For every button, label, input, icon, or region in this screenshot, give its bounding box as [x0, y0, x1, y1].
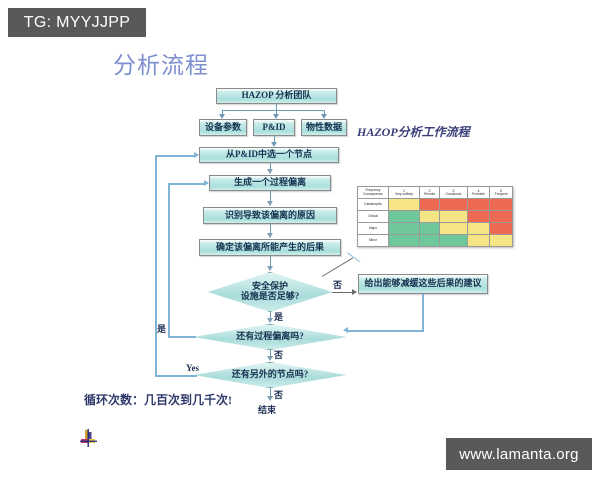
arrow-determine-to-safeguard: [267, 266, 273, 271]
risk-cell-1-1: [420, 211, 440, 223]
risk-cell-0-2: [440, 199, 468, 211]
leader-line-matrix: [322, 258, 353, 277]
risk-cell-0-1: [420, 199, 440, 211]
loop-inner-bottom: [168, 336, 196, 338]
connector-safeguard-no: [332, 292, 352, 293]
arrow-nodes-no: [267, 396, 273, 401]
risk-cell-3-1: [420, 235, 440, 247]
arrow-to-pid: [273, 114, 279, 119]
arrow-deviation-no: [267, 356, 273, 361]
decision-more-deviation-label: 还有过程偏离吗?: [194, 324, 346, 350]
node-identify-cause: 识别导致该偏离的原因: [203, 207, 337, 224]
risk-cell-2-4: [490, 223, 513, 235]
risk-cell-1-2: [440, 211, 468, 223]
node-physical-data: 物性数据: [301, 119, 347, 136]
connector-suggestion-left: [348, 330, 424, 332]
risk-col-1: 1 Very unlikely: [389, 187, 420, 199]
flowchart-caption: HAZOP分析工作流程: [357, 123, 470, 140]
risk-row-label-minor: Minor: [358, 235, 389, 247]
page-title: 分析流程: [113, 46, 209, 80]
edge-label-deviation-no: 否: [274, 348, 283, 361]
arrow-to-equipment: [219, 114, 225, 119]
edge-label-safeguard-no: 否: [333, 278, 342, 291]
arrow-to-physical: [321, 114, 327, 119]
risk-col-3-label: Occasional: [446, 192, 462, 196]
risk-cell-2-2: [440, 223, 468, 235]
risk-cell-2-1: [420, 223, 440, 235]
risk-row-label-major: Major: [358, 223, 389, 235]
arrow-select-to-generate: [267, 169, 273, 174]
risk-col-5-label: Frequent: [495, 192, 508, 196]
risk-col-2-label: Remote: [424, 192, 435, 196]
edge-label-nodes-yes: Yes: [186, 363, 199, 373]
slide-canvas: TG: MYYJJPP www.lamanta.org 分析流程 HAZOP分析…: [0, 0, 600, 480]
risk-row-label-critical: Critical: [358, 211, 389, 223]
arrow-loop-inner: [204, 180, 209, 186]
risk-row-label-catastrophic: Catastrophic: [358, 199, 389, 211]
loop-count-note: 循环次数：几百次到几千次!: [84, 391, 232, 408]
risk-cell-1-4: [490, 211, 513, 223]
risk-cell-0-3: [467, 199, 490, 211]
table-row: Major: [358, 223, 513, 235]
risk-col-4-label: Probable: [472, 192, 485, 196]
risk-matrix-body: Catastrophic Critical Major: [358, 199, 513, 247]
risk-col-5: 5 Frequent: [490, 187, 513, 199]
risk-cell-2-3: [467, 223, 490, 235]
table-row: Minor: [358, 235, 513, 247]
edge-label-safeguard-yes: 是: [274, 310, 283, 323]
loop-inner-top: [168, 183, 204, 185]
risk-cell-1-0: [389, 211, 420, 223]
connector-identify-to-determine: [270, 224, 271, 233]
decision-more-nodes-label: 还有另外的节点吗?: [194, 362, 346, 388]
risk-matrix-table: Frequency Consequence 1 Very unlikely 2 …: [357, 186, 513, 247]
node-determine-consequence: 确定该偏离所能产生的后果: [199, 239, 341, 256]
loop-inner-left: [168, 183, 170, 336]
risk-matrix-corner: Frequency Consequence: [358, 187, 389, 199]
risk-cell-1-3: [467, 211, 490, 223]
arrow-safeguard-no: [352, 289, 357, 295]
risk-col-3: 3 Occasional: [440, 187, 468, 199]
connector-determine-to-safeguard: [270, 256, 271, 266]
node-select-node: 从P&ID中选一个节点: [199, 147, 339, 163]
decision-safeguard-label: 安全保护 设施是否足够?: [208, 272, 332, 312]
risk-cell-3-0: [389, 235, 420, 247]
risk-col-2: 2 Remote: [420, 187, 440, 199]
connector-suggestion-down: [422, 294, 424, 330]
decision-safeguard-enough: 安全保护 设施是否足够?: [208, 272, 332, 312]
watermark-bottom: www.lamanta.org: [446, 438, 592, 470]
decision-more-deviation: 还有过程偏离吗?: [194, 324, 346, 350]
node-equipment-params: 设备参数: [199, 119, 247, 136]
table-row: Catastrophic: [358, 199, 513, 211]
connector-team-bus: [222, 110, 324, 111]
node-mitigation-suggestion: 给出能够减缓这些后果的建议: [358, 274, 488, 294]
loop-outer-top: [155, 155, 194, 157]
arrow-generate-to-identify: [267, 201, 273, 206]
risk-matrix-header-row: Frequency Consequence 1 Very unlikely 2 …: [358, 187, 513, 199]
corner-consequence-label: Consequence: [363, 192, 383, 196]
risk-cell-3-2: [440, 235, 468, 247]
arrow-safeguard-yes: [267, 318, 273, 323]
node-pid: P&ID: [253, 119, 295, 136]
risk-col-4: 4 Probable: [467, 187, 490, 199]
arrow-suggestion-to-deviation: [343, 327, 348, 333]
node-generate-deviation: 生成一个过程偏离: [209, 175, 331, 191]
risk-cell-2-0: [389, 223, 420, 235]
risk-col-1-label: Very unlikely: [395, 192, 413, 196]
decision-more-nodes: 还有另外的节点吗?: [194, 362, 346, 388]
watermark-top: TG: MYYJJPP: [8, 8, 146, 37]
chart-decoration-icon: [78, 428, 100, 450]
arrow-loop-outer: [194, 152, 199, 158]
connector-generate-to-identify: [270, 191, 271, 201]
edge-label-deviation-yes: 是: [157, 322, 166, 335]
node-hazop-team: HAZOP 分析团队: [216, 88, 337, 104]
table-row: Critical: [358, 211, 513, 223]
arrow-pid-to-select: [271, 142, 277, 147]
risk-cell-0-4: [490, 199, 513, 211]
loop-outer-left: [155, 155, 157, 375]
arrow-identify-to-determine: [267, 233, 273, 238]
risk-cell-3-4: [490, 235, 513, 247]
loop-outer-bottom: [155, 375, 197, 377]
risk-cell-0-0: [389, 199, 420, 211]
risk-cell-3-3: [467, 235, 490, 247]
terminal-end-label: 结束: [258, 403, 276, 416]
edge-label-nodes-no: 否: [274, 388, 283, 401]
